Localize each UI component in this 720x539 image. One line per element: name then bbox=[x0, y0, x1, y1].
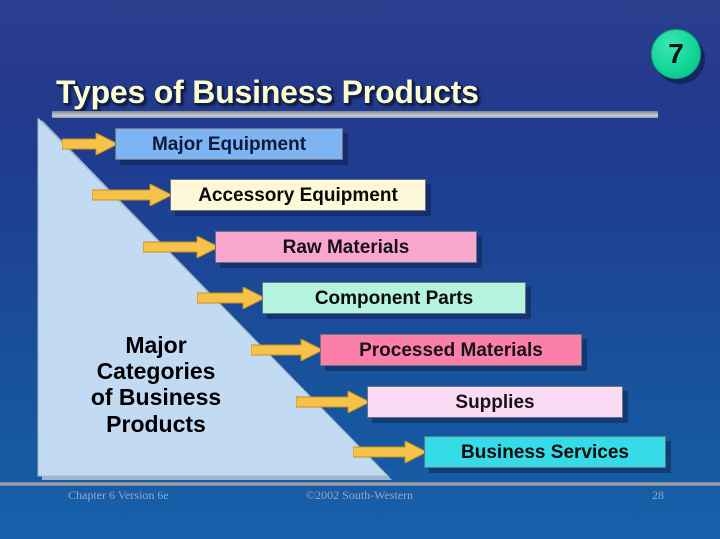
triangle-caption: Major Categories of Business Products bbox=[66, 332, 246, 437]
flow-arrow-7 bbox=[353, 441, 427, 463]
flow-arrow-3 bbox=[143, 236, 219, 258]
caption-line-3: of Business bbox=[66, 384, 246, 410]
product-bar: Major Equipment bbox=[115, 128, 343, 160]
chapter-badge-number: 7 bbox=[651, 29, 701, 79]
footer-page-number: 28 bbox=[652, 488, 664, 503]
footer-copyright: ©2002 South-Western bbox=[306, 488, 413, 503]
caption-line-1: Major bbox=[66, 332, 246, 358]
chapter-badge: 7 bbox=[651, 29, 707, 85]
product-bar: Business Services bbox=[424, 436, 666, 468]
flow-arrow-1 bbox=[62, 133, 118, 155]
title-underline-rule bbox=[52, 111, 658, 118]
product-bar: Accessory Equipment bbox=[170, 179, 426, 211]
product-bar-label: Business Services bbox=[461, 443, 629, 462]
product-bar-label: Major Equipment bbox=[152, 135, 306, 154]
product-bar: Component Parts bbox=[262, 282, 526, 314]
product-bar-label: Supplies bbox=[455, 393, 534, 412]
flow-arrow-6 bbox=[296, 391, 370, 413]
product-bar: Supplies bbox=[367, 386, 623, 418]
product-bar-label: Raw Materials bbox=[283, 238, 410, 257]
page-title: Types of Business Products bbox=[56, 74, 479, 111]
footer-divider bbox=[0, 482, 720, 486]
product-bar-label: Accessory Equipment bbox=[198, 186, 398, 205]
product-bar-label: Processed Materials bbox=[359, 341, 543, 360]
product-bar-label: Component Parts bbox=[315, 289, 473, 308]
footer-chapter-label: Chapter 6 Version 6e bbox=[68, 488, 169, 503]
caption-line-4: Products bbox=[66, 411, 246, 437]
product-bar: Raw Materials bbox=[215, 231, 477, 263]
flow-arrow-2 bbox=[92, 184, 172, 206]
product-bar: Processed Materials bbox=[320, 334, 582, 366]
flow-arrow-4 bbox=[197, 287, 265, 309]
slide-canvas: 7 Types of Business Products Major Categ… bbox=[0, 0, 720, 539]
caption-line-2: Categories bbox=[66, 358, 246, 384]
flow-arrow-5 bbox=[251, 339, 323, 361]
